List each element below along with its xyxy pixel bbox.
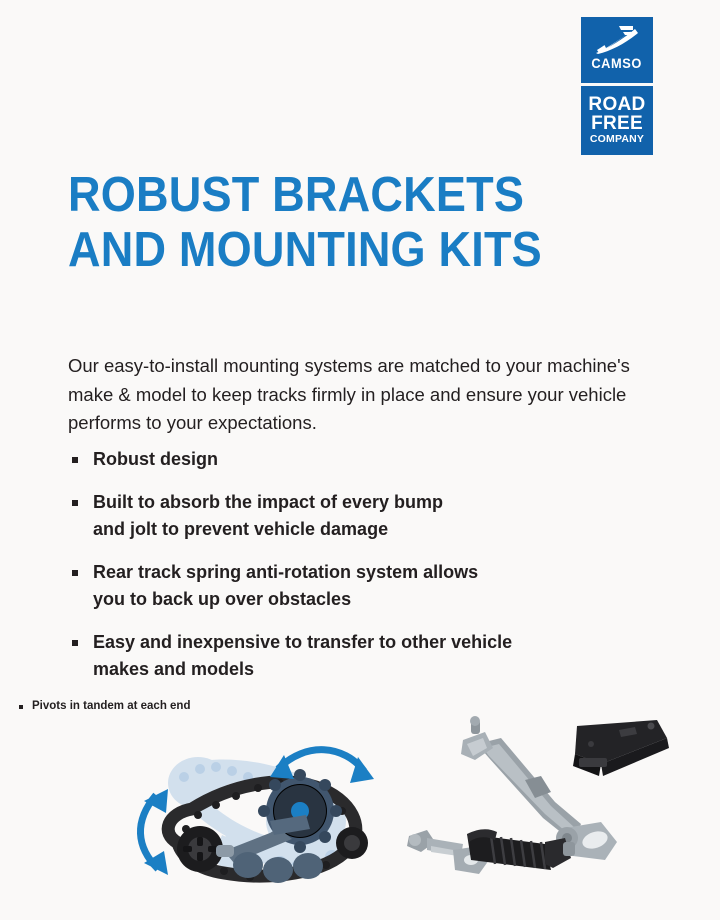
list-item: Easy and inexpensive to transfer to othe… — [68, 629, 648, 683]
bullet-line: Built to absorb the impact of every bump — [93, 489, 648, 516]
figure-caption: Pivots in tandem at each end — [18, 700, 190, 712]
bullet-line: makes and models — [93, 656, 648, 683]
bullet-line: you to back up over obstacles — [93, 586, 648, 613]
page-title-line-1: ROBUST BRACKETS — [68, 168, 583, 223]
badge-line-company: COMPANY — [590, 134, 644, 144]
page-title: ROBUST BRACKETS AND MOUNTING KITS — [68, 168, 583, 278]
list-item: Robust design — [68, 446, 648, 473]
idler-wheel-rear — [336, 827, 368, 859]
road-free-company-badge: ROAD FREE COMPANY — [578, 86, 656, 158]
bullet-line: Robust design — [93, 446, 648, 473]
pivot-arrow-top — [270, 750, 374, 783]
list-item: Built to absorb the impact of every bump… — [68, 489, 648, 543]
feature-bullet-list: Robust design Built to absorb the impact… — [68, 446, 648, 699]
intro-paragraph: Our easy-to-install mounting systems are… — [68, 352, 633, 438]
black-bracket-rail — [573, 720, 669, 776]
camso-wordmark: CAMSO — [592, 57, 643, 71]
camso-logo-box: CAMSO — [578, 14, 656, 86]
bullet-line: Rear track spring anti-rotation system a… — [93, 559, 648, 586]
camso-mountain-mark-icon — [595, 24, 639, 54]
mounting-bracket-parts-photo — [405, 718, 695, 898]
list-item: Rear track spring anti-rotation system a… — [68, 559, 648, 613]
rubber-track-system-pivot-diagram — [120, 725, 410, 900]
bullet-line: and jolt to prevent vehicle damage — [93, 516, 648, 543]
bullet-line: Easy and inexpensive to transfer to othe… — [93, 629, 648, 656]
camso-logo-block: CAMSO ROAD FREE COMPANY — [578, 14, 656, 158]
anti-rotation-spring-assembly — [407, 829, 575, 874]
badge-line-free: FREE — [591, 115, 643, 134]
page-title-line-2: AND MOUNTING KITS — [68, 223, 583, 278]
